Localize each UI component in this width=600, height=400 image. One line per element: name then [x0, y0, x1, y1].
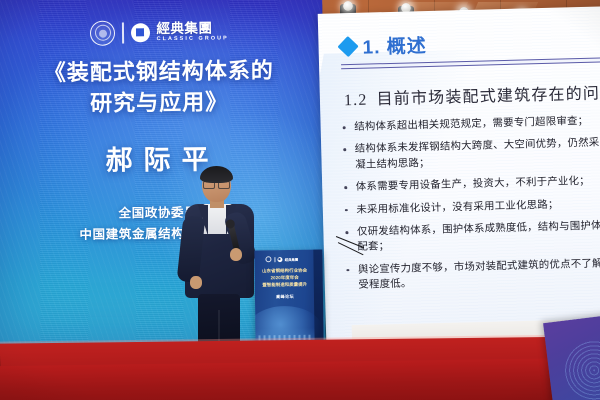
podium: 經典集團 山东省钢结构行业协会 2020年度年会 暨智能制造和质量提升 高峰论坛	[254, 250, 323, 349]
list-item: 结构体系未发挥钢结构大跨度、大空间优势，仍然采用混凝土结构思路；	[343, 135, 600, 173]
classic-group-mark-icon	[277, 257, 282, 262]
slide-bullet-list: 结构体系超出相关规范规定，需要专门超限审查； 结构体系未发挥钢结构大跨度、大空间…	[342, 113, 600, 301]
brand-name-cn: 經典集團	[156, 21, 228, 35]
slide-subheading-number: 1.2	[344, 92, 368, 110]
podium-title-line3: 暨智能制造和质量提升	[259, 281, 311, 289]
brand-name-en: CLASSIC GROUP	[157, 36, 229, 42]
speaker-hand-left	[190, 276, 202, 289]
bullet-dot-icon	[345, 231, 348, 234]
led-slide-panel: 1. 概述 1.2目前市场装配式建筑存在的问题 结构体系超出相关规范规定，需要专…	[318, 6, 600, 345]
brand-logo-row: 經典集團 CLASSIC GROUP	[90, 16, 250, 48]
logo-divider	[274, 257, 275, 262]
logo-divider	[122, 22, 124, 43]
bullet-text: 体系需要专用设备生产，投资大，不利于产业化；	[356, 174, 590, 196]
bullet-text: 未采用标准化设计，没有采用工业化思路；	[356, 197, 559, 218]
speaker-hand-right	[230, 248, 242, 261]
glasses-icon	[203, 180, 230, 186]
podium-logo-row: 經典集團	[265, 256, 298, 262]
stage-front-face	[0, 358, 600, 400]
list-item: 舆论宣传力度不够，市场对装配式建筑的优点不了解，接受程度低。	[346, 255, 600, 293]
list-item: 未采用标准化设计，没有采用工业化思路；	[345, 195, 600, 218]
secondary-display-panel	[543, 313, 600, 400]
bullet-dot-icon	[343, 126, 346, 129]
podium-forum-label: 高峰论坛	[259, 294, 311, 301]
presentation-title: 《装配式钢结构体系的 研究与应用》	[0, 54, 318, 120]
conference-photo: 經典集團 CLASSIC GROUP 《装配式钢结构体系的 研究与应用》 郝际平…	[0, 0, 600, 400]
bullet-dot-icon	[344, 186, 347, 189]
bullet-text: 结构体系未发挥钢结构大跨度、大空间优势，仍然采用混凝土结构思路；	[355, 135, 600, 173]
association-seal-icon	[265, 256, 271, 262]
microphone-stand-icon	[336, 236, 370, 262]
bullet-dot-icon	[345, 209, 348, 212]
bullet-dot-icon	[343, 149, 346, 152]
mic-rod	[338, 242, 364, 256]
classic-group-mark-icon	[130, 23, 149, 42]
list-item: 仅研发结构体系，围护体系成熟度低，结构与围护体系不配套；	[345, 218, 600, 256]
slide-heading-row: 1. 概述	[340, 31, 427, 60]
diamond-icon	[337, 36, 358, 57]
slide-heading: 1. 概述	[362, 31, 427, 60]
bullet-text: 仅研发结构体系，围护体系成熟度低，结构与围护体系不配套；	[357, 218, 600, 256]
association-seal-icon	[90, 20, 115, 45]
podium-event-title: 山东省钢结构行业协会 2020年度年会 暨智能制造和质量提升	[259, 268, 311, 289]
list-item: 体系需要专用设备生产，投资大，不利于产业化；	[344, 173, 600, 196]
bullet-dot-icon	[346, 269, 349, 272]
bullet-text: 舆论宣传力度不够，市场对装配式建筑的优点不了解，接受程度低。	[358, 255, 600, 293]
podium-logo-text: 經典集團	[285, 256, 299, 261]
